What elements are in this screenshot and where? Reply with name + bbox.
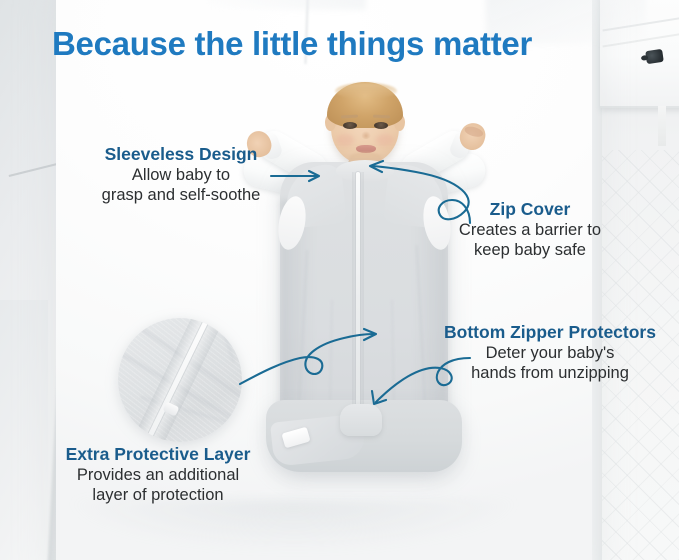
feature-label-extra-layer: Extra Protective Layer Provides an addit… [18, 444, 298, 506]
bottom-zipper-protector [340, 404, 382, 436]
feature-title-sleeveless: Sleeveless Design [56, 144, 306, 165]
baby-hair-highlight [335, 83, 397, 99]
page-title: Because the little things matter [52, 25, 532, 63]
product-feature-infographic: Because the little things matter Sleevel… [0, 0, 679, 560]
feature-body-sleeveless-line1: Allow baby to [56, 165, 306, 185]
feature-body-bottom-zipper-line1: Deter your baby's [422, 343, 678, 363]
feature-label-zip-cover: Zip Cover Creates a barrier to keep baby… [424, 199, 636, 261]
feature-body-bottom-zipper-line2: hands from unzipping [422, 363, 678, 383]
feature-body-extra-layer-line2: layer of protection [18, 485, 298, 505]
feature-body-sleeveless-line2: grasp and self-soothe [56, 185, 306, 205]
zipper [356, 172, 360, 430]
baby-nose [361, 131, 371, 139]
feature-title-bottom-zipper: Bottom Zipper Protectors [422, 322, 678, 343]
feature-title-zip-cover: Zip Cover [424, 199, 636, 220]
baby-cheek-right [376, 134, 394, 146]
fabric-closeup-inset [118, 318, 242, 442]
feature-label-sleeveless: Sleeveless Design Allow baby to grasp an… [56, 144, 306, 206]
feature-label-bottom-zipper: Bottom Zipper Protectors Deter your baby… [422, 322, 678, 384]
feature-body-zip-cover-line2: keep baby safe [424, 240, 636, 260]
feature-title-extra-layer: Extra Protective Layer [18, 444, 298, 465]
sleep-sack-neckline [336, 160, 394, 182]
feature-body-zip-cover-line1: Creates a barrier to [424, 220, 636, 240]
baby-cheek-left [336, 134, 354, 146]
baby-eye-right [374, 122, 388, 129]
baby-eye-left [343, 122, 357, 129]
feature-body-extra-layer-line1: Provides an additional [18, 465, 298, 485]
